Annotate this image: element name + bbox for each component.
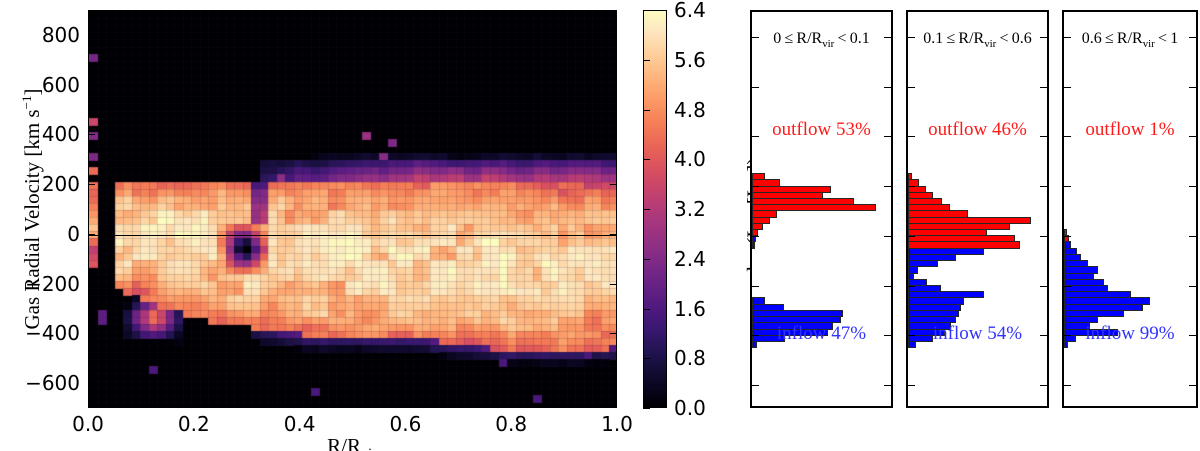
histogram-panel-mid: 0.1 ≤ R/Rvir < 0.6outflow 46%inflow 54% — [906, 10, 1049, 408]
panel-y-tick — [908, 87, 915, 88]
panel-y-tick — [1040, 286, 1047, 287]
histogram-panel-inner: 0 ≤ R/Rvir < 0.1outflow 53%inflow 47% — [750, 10, 893, 408]
panel-y-tick — [884, 186, 891, 187]
colorbar-tick-label: 0.0 — [674, 396, 706, 420]
x-axis-tick — [616, 401, 617, 408]
colorbar-tick-label: 2.4 — [674, 247, 706, 271]
panel-y-tick — [884, 87, 891, 88]
inflow-fraction-label: inflow 47% — [752, 323, 891, 345]
panel-y-tick — [1189, 286, 1196, 287]
panel-range-caption: 0.1 ≤ R/Rvir < 0.6 — [908, 30, 1047, 50]
panel-y-tick — [908, 186, 915, 187]
outflow-fraction-label: outflow 46% — [908, 119, 1047, 141]
panel-y-tick — [1189, 186, 1196, 187]
inflow-fraction-label: inflow 54% — [908, 323, 1047, 345]
y-axis-tick — [88, 134, 95, 135]
panel-y-tick — [1189, 87, 1196, 88]
panel-y-tick — [752, 87, 759, 88]
panel-y-tick — [752, 385, 759, 386]
x-axis-tick — [405, 401, 406, 408]
x-axis-tick — [300, 401, 301, 408]
x-axis-tick-top — [300, 11, 301, 18]
histogram-bar-inflow — [752, 241, 755, 248]
panel-y-tick — [1189, 385, 1196, 386]
histogram-panel-outer: 0.6 ≤ R/Rvir < 1outflow 1%inflow 99% — [1062, 10, 1198, 408]
y-axis-tick — [610, 85, 617, 86]
y-axis-tick — [610, 134, 617, 135]
colorbar-tick-label: 1.6 — [674, 297, 706, 321]
panel-y-tick — [752, 236, 759, 237]
colorbar-tick — [643, 209, 650, 210]
y-axis-tick — [88, 184, 95, 185]
figure-root: 8006004002000−200−400−6000.00.20.40.60.8… — [0, 0, 1200, 451]
panel-y-tick — [908, 385, 915, 386]
colorbar-tick — [643, 10, 650, 11]
panel-y-tick — [908, 236, 915, 237]
panel-range-caption: 0 ≤ R/Rvir < 0.1 — [752, 30, 891, 50]
y-axis-tick — [610, 284, 617, 285]
colorbar-tick — [643, 309, 650, 310]
outflow-fraction-label: outflow 53% — [752, 119, 891, 141]
panel-range-caption: 0.6 ≤ R/Rvir < 1 — [1064, 30, 1196, 50]
y-axis-tick — [88, 85, 95, 86]
panel-y-tick — [1064, 385, 1071, 386]
x-axis-tick-top — [511, 11, 512, 18]
colorbar-tick-label: 3.2 — [674, 197, 706, 221]
x-axis-tick-label: 0.2 — [178, 412, 210, 436]
colorbar-tick — [643, 110, 650, 111]
y-axis-tick — [88, 333, 95, 334]
panel-y-tick — [1040, 385, 1047, 386]
colorbar-tick-label: 4.8 — [674, 98, 706, 122]
x-axis-title: R/Rvir — [327, 434, 377, 451]
colorbar-tick-label: 4.0 — [674, 147, 706, 171]
main-heatmap-panel — [88, 10, 617, 408]
x-axis-tick-top — [405, 11, 406, 18]
panel-y-tick — [884, 385, 891, 386]
panel-y-tick — [1064, 286, 1071, 287]
panel-y-tick — [1040, 87, 1047, 88]
y-axis-tick — [88, 284, 95, 285]
y-axis-tick — [610, 35, 617, 36]
x-axis-tick-label: 0.0 — [72, 412, 104, 436]
y-axis-tick — [88, 35, 95, 36]
colorbar-tick — [643, 358, 650, 359]
y-axis-tick — [610, 234, 617, 235]
x-axis-tick-label: 0.6 — [389, 412, 421, 436]
x-axis-tick-top — [616, 11, 617, 18]
panel-y-tick — [1040, 186, 1047, 187]
heatmap-canvas — [89, 11, 617, 408]
colorbar-tick — [643, 259, 650, 260]
y-axis-tick — [88, 383, 95, 384]
y-axis-tick — [610, 383, 617, 384]
panel-y-tick — [884, 236, 891, 237]
panel-y-tick — [752, 186, 759, 187]
zero-velocity-line — [89, 235, 616, 236]
colorbar-tick — [643, 159, 650, 160]
x-axis-tick-label: 0.4 — [284, 412, 316, 436]
y-axis-tick — [610, 184, 617, 185]
panel-y-tick — [908, 286, 915, 287]
panel-y-tick — [884, 286, 891, 287]
x-axis-tick-top — [88, 11, 89, 18]
colorbar-tick — [643, 408, 650, 409]
panel-y-tick — [1064, 186, 1071, 187]
x-axis-tick-label: 0.8 — [495, 412, 527, 436]
y-axis-tick — [88, 234, 95, 235]
colorbar-tick-label: 5.6 — [674, 48, 706, 72]
y-axis-tick — [610, 333, 617, 334]
colorbar-tick-label: 6.4 — [674, 0, 706, 22]
x-axis-tick-label: 1.0 — [601, 412, 633, 436]
x-axis-tick-top — [194, 11, 195, 18]
panel-y-tick — [1064, 236, 1071, 237]
colorbar-tick — [643, 60, 650, 61]
panel-y-tick — [1064, 87, 1071, 88]
colorbar-tick-label: 0.8 — [674, 346, 706, 370]
inflow-fraction-label: inflow 99% — [1064, 323, 1196, 345]
panel-y-tick — [1189, 236, 1196, 237]
panel-y-tick — [752, 286, 759, 287]
outflow-fraction-label: outflow 1% — [1064, 119, 1196, 141]
y-axis-title: Gas Radial Velocity [km s−1] — [19, 9, 45, 409]
x-axis-tick — [194, 401, 195, 408]
x-axis-tick — [88, 401, 89, 408]
x-axis-tick — [511, 401, 512, 408]
panel-y-tick — [1040, 236, 1047, 237]
